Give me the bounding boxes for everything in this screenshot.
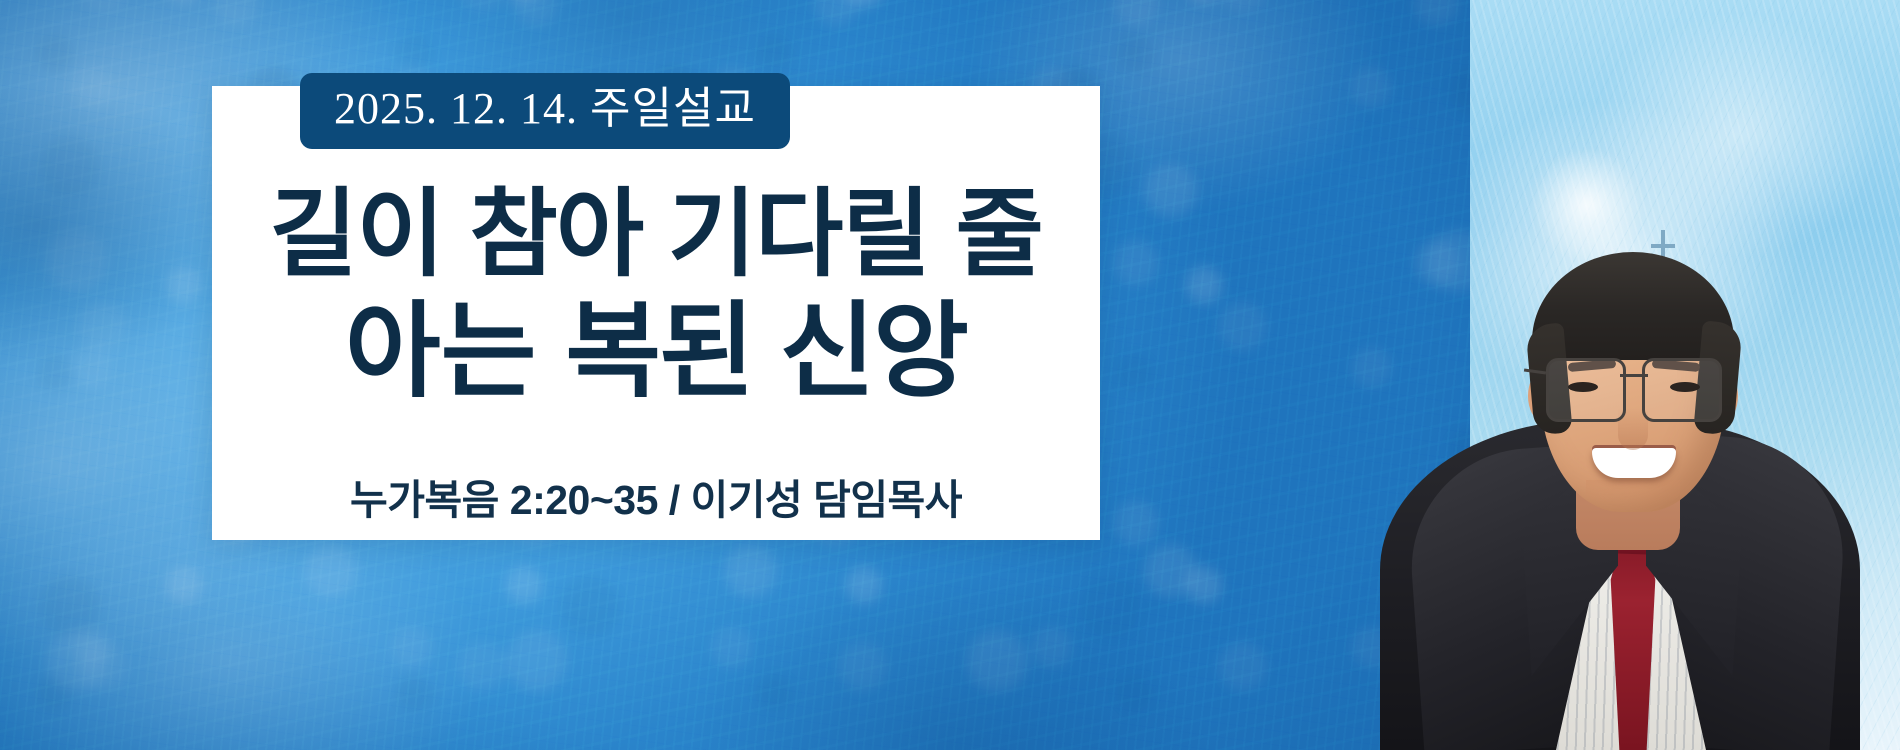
sermon-title-line-1: 길이 참아 기다릴 줄 [236,178,1076,291]
date-badge: 2025. 12. 14. 주일설교 [300,73,790,149]
sermon-title-line-2-part-a: 아는 [345,294,565,410]
sermon-title-line-1-part-c: 기다릴 줄 [642,181,1043,288]
pastor-eye-right [1670,382,1700,392]
photo-composite [1140,0,1900,750]
sermon-banner: 2025. 12. 14. 주일설교 길이 참아 기다릴 줄 아는 복된 신앙 … [0,0,1900,750]
sermon-title: 길이 참아 기다릴 줄 아는 복된 신앙 [236,178,1076,414]
pastor-eye-left [1568,382,1598,392]
scripture-and-preacher: 누가복음 2:20~35 / 이기성 담임목사 [236,466,1076,526]
sermon-title-line-2-emphasis: 복된 신앙 [565,294,967,410]
glasses-bridge [1620,374,1648,377]
sermon-title-line-1-part-a: 길이 [269,181,469,288]
sermon-title-line-1-emphasis: 참아 [470,181,643,288]
glasses-icon [1540,358,1728,420]
pastor-chin-shadow [1586,480,1680,506]
sermon-title-line-2: 아는 복된 신앙 [236,291,1076,414]
pastor-portrait-photo [1380,110,1860,750]
pastor-smile [1592,448,1676,478]
